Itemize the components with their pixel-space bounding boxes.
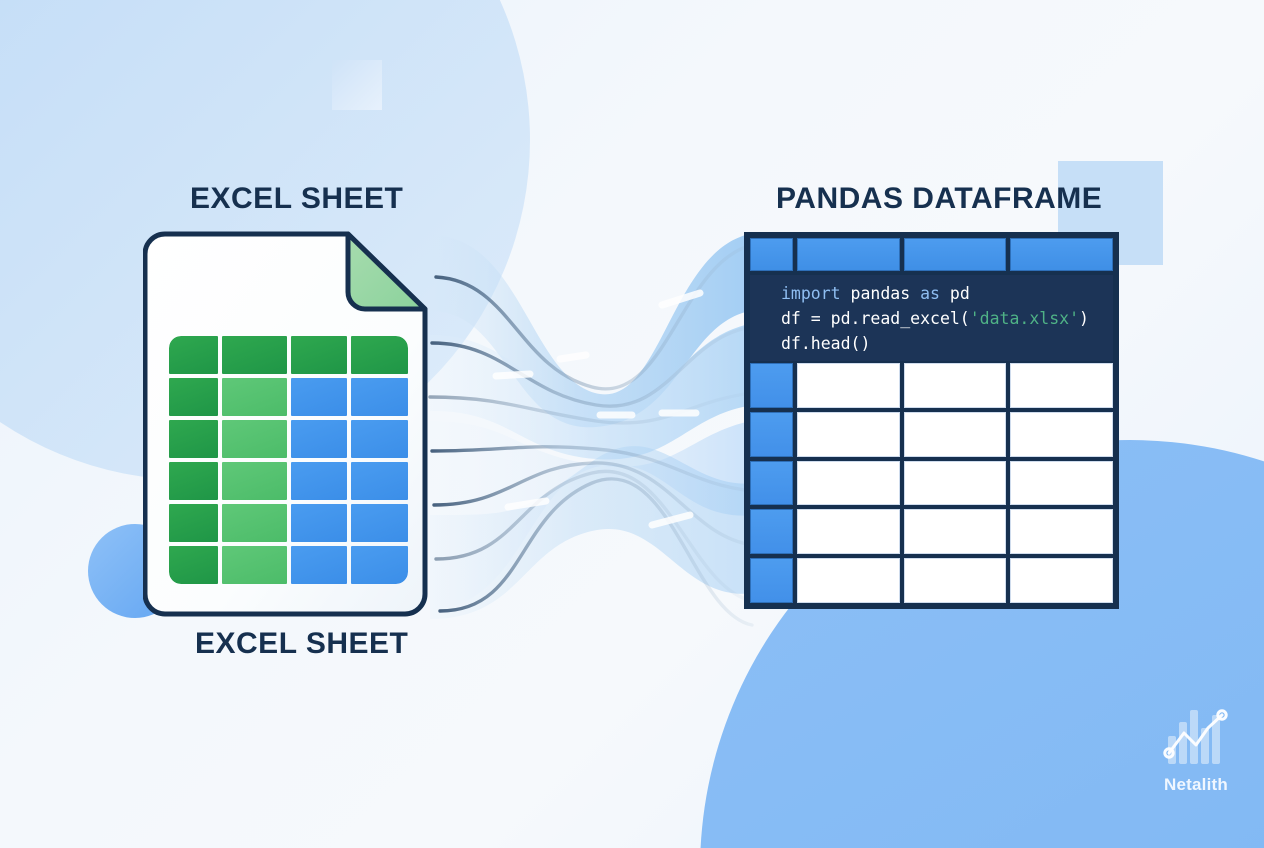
excel-cell [351, 504, 408, 542]
code-line: df = pd.read_excel('data.xlsx') [781, 309, 1089, 328]
dataframe-index-cell [750, 363, 793, 408]
excel-cell [222, 504, 287, 542]
dataframe-data-cell [904, 412, 1007, 457]
excel-cell [169, 336, 218, 374]
excel-cell [351, 378, 408, 416]
dataframe-row [750, 461, 1113, 506]
code-token-plain: pandas [851, 284, 921, 303]
excel-cell [169, 462, 218, 500]
excel-cell [222, 378, 287, 416]
excel-cell [222, 462, 287, 500]
excel-cell [291, 420, 348, 458]
excel-cell [169, 504, 218, 542]
brand-logo: Netalith [1141, 706, 1251, 795]
dataframe-data-cell [797, 558, 900, 603]
dataframe-data-cell [797, 509, 900, 554]
dataframe-row [750, 363, 1113, 408]
code-token-plain: df = pd.read_excel( [781, 309, 970, 328]
code-token-plain: pd [950, 284, 970, 303]
dataframe-data-cell [904, 461, 1007, 506]
dataframe-data-cell [1010, 363, 1113, 408]
excel-cell [351, 462, 408, 500]
dataframe-index-cell [750, 558, 793, 603]
dataframe-row [750, 558, 1113, 603]
excel-cell [351, 546, 408, 584]
excel-cell-grid [169, 336, 408, 584]
dataframe-index-cell [750, 412, 793, 457]
page-title-excel-bottom: EXCEL SHEET [195, 627, 408, 661]
excel-cell [351, 420, 408, 458]
dataframe-data-cell [904, 558, 1007, 603]
dataframe-data-cell [797, 461, 900, 506]
excel-cell [222, 420, 287, 458]
python-code-block: import pandas as pd df = pd.read_excel('… [750, 275, 1113, 361]
excel-cell [222, 546, 287, 584]
dataframe-header-cell [797, 238, 900, 271]
dataframe-index-cell [750, 509, 793, 554]
page-title-excel-top: EXCEL SHEET [190, 182, 403, 216]
dataframe-data-cell [904, 363, 1007, 408]
dataframe-data-cell [1010, 412, 1113, 457]
excel-cell [169, 420, 218, 458]
excel-cell [291, 546, 348, 584]
dataframe-data-cell [1010, 558, 1113, 603]
excel-cell [222, 336, 287, 374]
code-token-keyword: as [920, 284, 950, 303]
dataframe-header-row [750, 238, 1113, 271]
dataframe-data-cell [797, 363, 900, 408]
code-token-string: 'data.xlsx' [970, 309, 1079, 328]
page-title-pandas: PANDAS DATAFRAME [776, 182, 1102, 216]
dataframe-row [750, 412, 1113, 457]
dataframe-header-index-cell [750, 238, 793, 271]
pandas-dataframe-table: import pandas as pd df = pd.read_excel('… [744, 232, 1119, 609]
code-token-plain: df.head() [781, 334, 870, 353]
excel-cell [169, 546, 218, 584]
dataframe-data-cell [904, 509, 1007, 554]
code-line: df.head() [781, 334, 870, 353]
dataframe-data-cell [1010, 461, 1113, 506]
excel-cell [169, 378, 218, 416]
square-top-left-small [332, 60, 382, 110]
code-token-keyword: import [781, 284, 851, 303]
excel-cell [351, 336, 408, 374]
dataframe-data-cell [1010, 509, 1113, 554]
dataframe-header-cell [904, 238, 1007, 271]
dataframe-data-cell [797, 412, 900, 457]
excel-cell [291, 336, 348, 374]
sheet-fold-corner [348, 234, 425, 309]
flow-connector [400, 215, 780, 635]
bar-line-chart-icon [1160, 706, 1232, 768]
brand-name: Netalith [1141, 775, 1251, 795]
dataframe-header-cell [1010, 238, 1113, 271]
excel-cell [291, 504, 348, 542]
code-token-plain: ) [1079, 309, 1089, 328]
excel-cell [291, 462, 348, 500]
dataframe-body [750, 363, 1113, 603]
code-line: import pandas as pd [781, 284, 970, 303]
dataframe-index-cell [750, 461, 793, 506]
excel-cell [291, 378, 348, 416]
dataframe-row [750, 509, 1113, 554]
infographic-canvas: import pandas as pd df = pd.read_excel('… [0, 0, 1264, 848]
